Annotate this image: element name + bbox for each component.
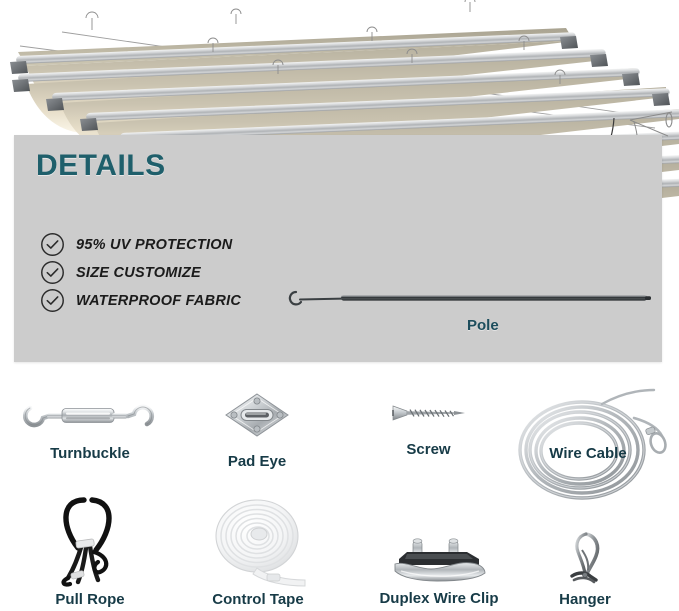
feature-row: SIZE CUSTOMIZE bbox=[40, 260, 201, 285]
control-tape-art bbox=[188, 496, 328, 588]
check-circle-icon bbox=[40, 260, 65, 285]
control-tape-roll-icon bbox=[205, 496, 311, 588]
pad-eye-icon bbox=[220, 390, 294, 440]
accessory-hanger: Hanger bbox=[532, 530, 638, 607]
screw-icon bbox=[389, 398, 469, 428]
hanger-clip-icon bbox=[562, 530, 608, 586]
feature-label: WATERPROOF FABRIC bbox=[76, 293, 241, 309]
check-circle-icon bbox=[40, 288, 65, 313]
turnbuckle-icon bbox=[22, 392, 158, 438]
accessory-duplex-wire-clip: Duplex Wire Clip bbox=[368, 535, 510, 606]
accessory-label: Control Tape bbox=[188, 592, 328, 607]
accessory-label: Turnbuckle bbox=[15, 446, 165, 461]
accessory-label: Screw bbox=[366, 442, 491, 457]
accessory-control-tape: Control Tape bbox=[188, 496, 328, 607]
duplex-wire-clip-icon bbox=[387, 535, 491, 585]
pull-rope-art bbox=[20, 492, 160, 588]
accessory-pad-eye: Pad Eye bbox=[187, 390, 327, 469]
check-circle-icon bbox=[40, 232, 65, 257]
accessory-label: Pad Eye bbox=[187, 454, 327, 469]
accessory-label: Pull Rope bbox=[20, 592, 160, 607]
accessory-label: Duplex Wire Clip bbox=[368, 591, 510, 606]
feature-row: 95% UV PROTECTION bbox=[40, 232, 233, 257]
accessory-label: Wire Cable bbox=[498, 446, 678, 461]
accessory-screw: Screw bbox=[366, 398, 491, 457]
accessory-pull-rope: Pull Rope bbox=[20, 492, 160, 607]
feature-label: SIZE CUSTOMIZE bbox=[76, 265, 201, 281]
accessory-turnbuckle: Turnbuckle bbox=[15, 392, 165, 461]
details-panel: DETAILS 95% UV PROTECTION SIZE CUSTOMIZE… bbox=[14, 135, 662, 362]
feature-label: 95% UV PROTECTION bbox=[76, 237, 233, 253]
screw-art bbox=[366, 398, 491, 428]
details-title: DETAILS bbox=[36, 149, 166, 183]
pole-label: Pole bbox=[467, 317, 499, 334]
pull-rope-icon bbox=[38, 492, 142, 588]
pad-eye-art bbox=[187, 390, 327, 440]
hanger-art bbox=[532, 530, 638, 586]
infographic-canvas: DETAILS 95% UV PROTECTION SIZE CUSTOMIZE… bbox=[0, 0, 679, 611]
pole-item: Pole bbox=[279, 283, 654, 343]
feature-row: WATERPROOF FABRIC bbox=[40, 288, 241, 313]
accessory-wire-cable: Wire Cable bbox=[498, 388, 678, 461]
accessory-label: Hanger bbox=[532, 592, 638, 607]
duplex-wire-clip-art bbox=[368, 535, 510, 585]
pole-with-hook-icon bbox=[279, 283, 654, 313]
turnbuckle-art bbox=[15, 392, 165, 438]
